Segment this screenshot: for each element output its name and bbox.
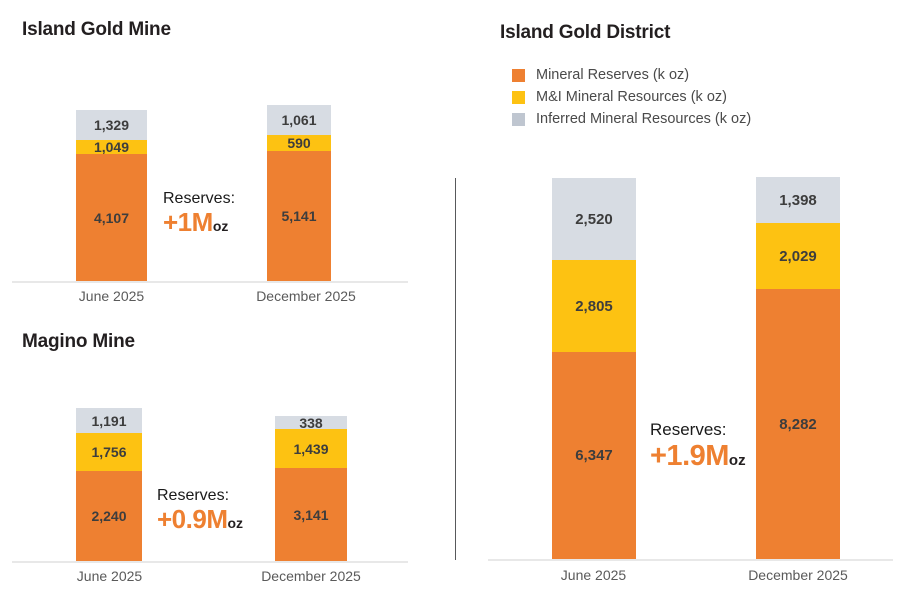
x-tick-island-gold-district-december: December 2025 bbox=[735, 567, 861, 583]
legend-swatch-mi bbox=[512, 91, 525, 104]
legend-item-reserves[interactable]: Mineral Reserves (k oz) bbox=[512, 64, 751, 86]
legend-swatch-reserves bbox=[512, 69, 525, 82]
bar-segment-label: 338 bbox=[299, 416, 322, 430]
bar-segment-label: 8,282 bbox=[779, 417, 817, 432]
callout-magino-mine: Reserves: +0.9Moz bbox=[157, 487, 243, 535]
bar-segment-reserves[interactable]: 5,141 bbox=[267, 151, 331, 281]
callout-value: +0.9M bbox=[157, 504, 228, 534]
bar-segment-mi[interactable]: 1,756 bbox=[76, 433, 142, 471]
x-tick-magino-mine-june: June 2025 bbox=[54, 568, 165, 584]
callout-value: +1.9M bbox=[650, 440, 729, 472]
callout-value: +1M bbox=[163, 207, 213, 237]
x-tick-island-gold-mine-june: June 2025 bbox=[56, 288, 167, 304]
bar-island-gold-mine-december[interactable]: 1,061 590 5,141 bbox=[267, 105, 331, 281]
x-tick-island-gold-mine-december: December 2025 bbox=[243, 288, 369, 304]
bar-segment-reserves[interactable]: 3,141 bbox=[275, 468, 347, 561]
bar-segment-inferred[interactable]: 1,061 bbox=[267, 105, 331, 135]
bar-island-gold-mine-june[interactable]: 1,329 1,049 4,107 bbox=[76, 110, 147, 281]
callout-unit: oz bbox=[228, 515, 244, 531]
callout-island-gold-district: Reserves: +1.9Moz bbox=[650, 420, 746, 473]
bar-segment-inferred[interactable]: 1,329 bbox=[76, 110, 147, 140]
bar-segment-label: 1,329 bbox=[94, 118, 129, 132]
bar-segment-inferred[interactable]: 2,520 bbox=[552, 178, 636, 260]
x-axis-line-magino-mine bbox=[12, 561, 408, 563]
callout-caption: Reserves: bbox=[163, 190, 235, 208]
bar-magino-mine-december[interactable]: 338 1,439 3,141 bbox=[275, 416, 347, 561]
x-axis-line-island-gold-mine bbox=[12, 281, 408, 283]
page-title-magino-mine: Magino Mine bbox=[22, 331, 135, 353]
legend: Mineral Reserves (k oz) M&I Mineral Reso… bbox=[512, 64, 751, 130]
legend-label: M&I Mineral Resources (k oz) bbox=[536, 89, 727, 105]
callout-caption: Reserves: bbox=[157, 487, 243, 505]
bar-segment-label: 4,107 bbox=[94, 211, 129, 225]
callout-island-gold-mine: Reserves: +1Moz bbox=[163, 190, 235, 238]
bar-segment-mi[interactable]: 2,805 bbox=[552, 260, 636, 352]
callout-caption: Reserves: bbox=[650, 420, 746, 440]
x-axis-line-island-gold-district bbox=[488, 559, 893, 561]
bar-segment-label: 2,029 bbox=[779, 249, 817, 264]
bar-segment-mi[interactable]: 1,049 bbox=[76, 140, 147, 154]
bar-segment-label: 1,756 bbox=[91, 445, 126, 459]
bar-segment-inferred[interactable]: 1,191 bbox=[76, 408, 142, 433]
legend-item-mi[interactable]: M&I Mineral Resources (k oz) bbox=[512, 86, 751, 108]
bar-segment-label: 1,061 bbox=[281, 113, 316, 127]
bar-segment-reserves[interactable]: 2,240 bbox=[76, 471, 142, 561]
callout-unit: oz bbox=[213, 218, 229, 234]
legend-label: Inferred Mineral Resources (k oz) bbox=[536, 111, 751, 127]
legend-swatch-inferred bbox=[512, 113, 525, 126]
bar-segment-label: 1,191 bbox=[91, 414, 126, 428]
bar-segment-inferred[interactable]: 1,398 bbox=[756, 177, 840, 223]
bar-segment-label: 590 bbox=[287, 136, 310, 150]
callout-unit: oz bbox=[729, 452, 746, 469]
bar-segment-label: 6,347 bbox=[575, 448, 613, 463]
bar-segment-label: 2,805 bbox=[575, 299, 613, 314]
legend-item-inferred[interactable]: Inferred Mineral Resources (k oz) bbox=[512, 108, 751, 130]
x-tick-magino-mine-december: December 2025 bbox=[248, 568, 374, 584]
bar-segment-label: 2,240 bbox=[91, 509, 126, 523]
bar-segment-mi[interactable]: 590 bbox=[267, 135, 331, 151]
bar-island-gold-district-december[interactable]: 1,398 2,029 8,282 bbox=[756, 177, 840, 559]
bar-magino-mine-june[interactable]: 1,191 1,756 2,240 bbox=[76, 408, 142, 561]
bar-island-gold-district-june[interactable]: 2,520 2,805 6,347 bbox=[552, 178, 636, 559]
bar-segment-reserves[interactable]: 8,282 bbox=[756, 289, 840, 559]
bar-segment-reserves[interactable]: 4,107 bbox=[76, 154, 147, 281]
bar-segment-label: 5,141 bbox=[281, 209, 316, 223]
bar-segment-label: 1,439 bbox=[293, 442, 328, 456]
bar-segment-label: 1,049 bbox=[94, 140, 129, 154]
bar-segment-label: 2,520 bbox=[575, 212, 613, 227]
legend-label: Mineral Reserves (k oz) bbox=[536, 67, 689, 83]
page-title-island-gold-mine: Island Gold Mine bbox=[22, 19, 171, 41]
bar-segment-label: 3,141 bbox=[293, 508, 328, 522]
bar-segment-reserves[interactable]: 6,347 bbox=[552, 352, 636, 559]
bar-segment-label: 1,398 bbox=[779, 193, 817, 208]
x-tick-island-gold-district-june: June 2025 bbox=[538, 567, 649, 583]
bar-segment-mi[interactable]: 1,439 bbox=[275, 429, 347, 468]
bar-segment-inferred[interactable]: 338 bbox=[275, 416, 347, 429]
panel-divider bbox=[455, 178, 456, 560]
bar-segment-mi[interactable]: 2,029 bbox=[756, 223, 840, 289]
page-title-island-gold-district: Island Gold District bbox=[500, 22, 670, 44]
